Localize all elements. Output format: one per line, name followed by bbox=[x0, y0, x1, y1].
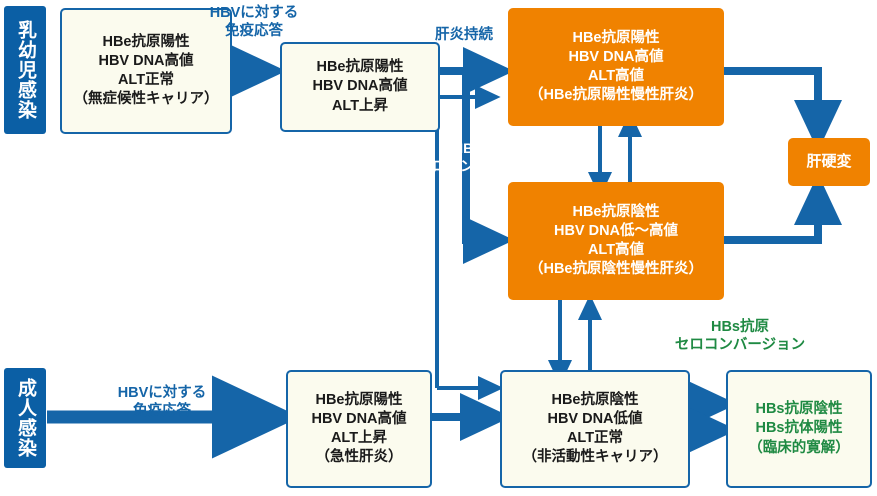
node-line: （臨床的寛解） bbox=[748, 439, 850, 458]
label-line: セロコンバージョン bbox=[664, 336, 816, 354]
label-hbe-seroconversion: HBe抗原 セロコンバージョン bbox=[414, 140, 548, 175]
label-hbs-seroconversion: HBs抗原 セロコンバージョン bbox=[664, 318, 816, 354]
label-immune-response-top: HBVに対する 免疫応答 bbox=[190, 4, 318, 40]
node-inactive-carrier: HBe抗原陰性 HBV DNA低値 ALT正常 （非活動性キャリア） bbox=[500, 370, 690, 488]
node-immune-clearance: HBe抗原陽性 HBV DNA高値 ALT上昇 bbox=[280, 42, 440, 132]
sidebar-item-infant-infection: 乳幼児感染 bbox=[4, 6, 46, 134]
node-line: HBs抗体陽性 bbox=[755, 419, 842, 438]
node-line: （HBe抗原陰性慢性肝炎） bbox=[529, 260, 703, 279]
label-immune-response-bottom: HBVに対する 免疫応答 bbox=[96, 384, 228, 420]
node-line: （非活動性キャリア） bbox=[523, 448, 668, 467]
node-hbeag-negative-chronic-hepatitis: HBe抗原陰性 HBV DNA低～高値 ALT高値 （HBe抗原陰性慢性肝炎） bbox=[508, 182, 724, 300]
tab-label-adult: 成人感染 bbox=[15, 378, 35, 458]
node-line: （無症候性キャリア） bbox=[74, 90, 219, 109]
node-line: HBV DNA低値 bbox=[547, 410, 642, 429]
label-line: セロコンバージョン bbox=[414, 158, 548, 176]
node-line: ALT高値 bbox=[588, 241, 644, 260]
node-line: 肝硬変 bbox=[806, 152, 851, 172]
node-cirrhosis: 肝硬変 bbox=[788, 138, 870, 186]
label-line: HBe抗原 bbox=[414, 140, 548, 158]
node-line: HBV DNA高値 bbox=[312, 77, 407, 96]
node-line: HBe抗原陽性 bbox=[572, 29, 659, 48]
node-line: HBe抗原陽性 bbox=[315, 391, 402, 410]
node-line: ALT正常 bbox=[567, 429, 623, 448]
label-line: HBs抗原 bbox=[664, 318, 816, 336]
node-line: ALT上昇 bbox=[332, 97, 388, 116]
node-line: HBV DNA低～高値 bbox=[554, 222, 678, 241]
node-line: HBe抗原陽性 bbox=[102, 33, 189, 52]
label-line: 免疫応答 bbox=[190, 22, 318, 40]
tab-label-infant: 乳幼児感染 bbox=[15, 20, 35, 120]
label-line: HBVに対する bbox=[190, 4, 318, 22]
node-line: HBV DNA高値 bbox=[98, 52, 193, 71]
diagram-canvas: 乳幼児感染 成人感染 HBe抗原陽性 HBV DNA高値 ALT正常 （無症候性… bbox=[0, 0, 877, 496]
node-line: HBe抗原陰性 bbox=[572, 203, 659, 222]
node-line: ALT上昇 bbox=[331, 429, 387, 448]
node-line: （急性肝炎） bbox=[316, 448, 403, 467]
node-line: HBe抗原陰性 bbox=[551, 391, 638, 410]
node-line: ALT正常 bbox=[118, 71, 174, 90]
node-line: HBe抗原陽性 bbox=[316, 58, 403, 77]
label-hepatitis-persist: 肝炎持続 bbox=[424, 26, 504, 44]
label-line: 免疫応答 bbox=[96, 402, 228, 420]
node-line: （HBe抗原陽性慢性肝炎） bbox=[529, 86, 703, 105]
node-line: HBs抗原陰性 bbox=[755, 400, 842, 419]
node-line: HBV DNA高値 bbox=[311, 410, 406, 429]
node-clinical-remission: HBs抗原陰性 HBs抗体陽性 （臨床的寛解） bbox=[726, 370, 872, 488]
sidebar-item-adult-infection: 成人感染 bbox=[4, 368, 46, 468]
node-line: HBV DNA高値 bbox=[568, 48, 663, 67]
label-line: 肝炎持続 bbox=[424, 26, 504, 44]
node-acute-hepatitis: HBe抗原陽性 HBV DNA高値 ALT上昇 （急性肝炎） bbox=[286, 370, 432, 488]
node-line: ALT高値 bbox=[588, 67, 644, 86]
label-line: HBVに対する bbox=[96, 384, 228, 402]
node-hbeag-positive-chronic-hepatitis: HBe抗原陽性 HBV DNA高値 ALT高値 （HBe抗原陽性慢性肝炎） bbox=[508, 8, 724, 126]
